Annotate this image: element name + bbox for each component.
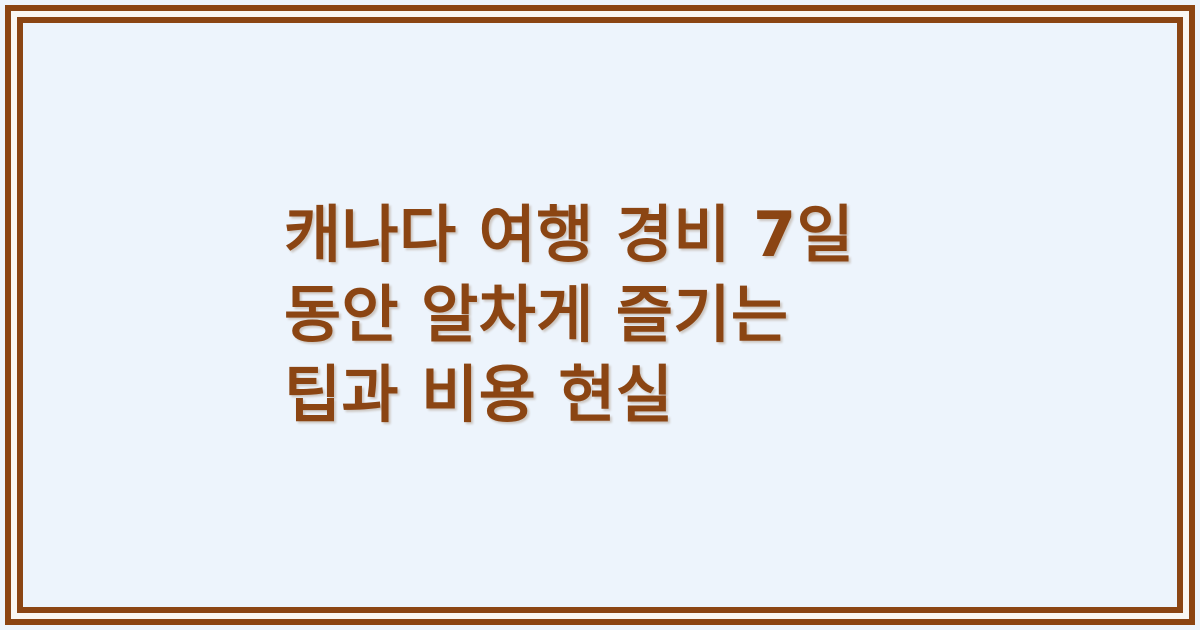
thumbnail-card: 캐나다 여행 경비 7일 동안 알차게 즐기는 팁과 비용 현실: [0, 0, 1200, 630]
title-line-3: 팁과 비용 현실: [284, 355, 984, 435]
page-title: 캐나다 여행 경비 7일 동안 알차게 즐기는 팁과 비용 현실: [284, 195, 984, 435]
content-area: 캐나다 여행 경비 7일 동안 알차게 즐기는 팁과 비용 현실: [23, 23, 1177, 607]
inner-border-frame: 캐나다 여행 경비 7일 동안 알차게 즐기는 팁과 비용 현실: [17, 17, 1183, 613]
outer-border-frame: 캐나다 여행 경비 7일 동안 알차게 즐기는 팁과 비용 현실: [5, 5, 1195, 625]
title-line-1: 캐나다 여행 경비 7일: [284, 195, 984, 275]
title-line-2: 동안 알차게 즐기는: [284, 275, 984, 355]
